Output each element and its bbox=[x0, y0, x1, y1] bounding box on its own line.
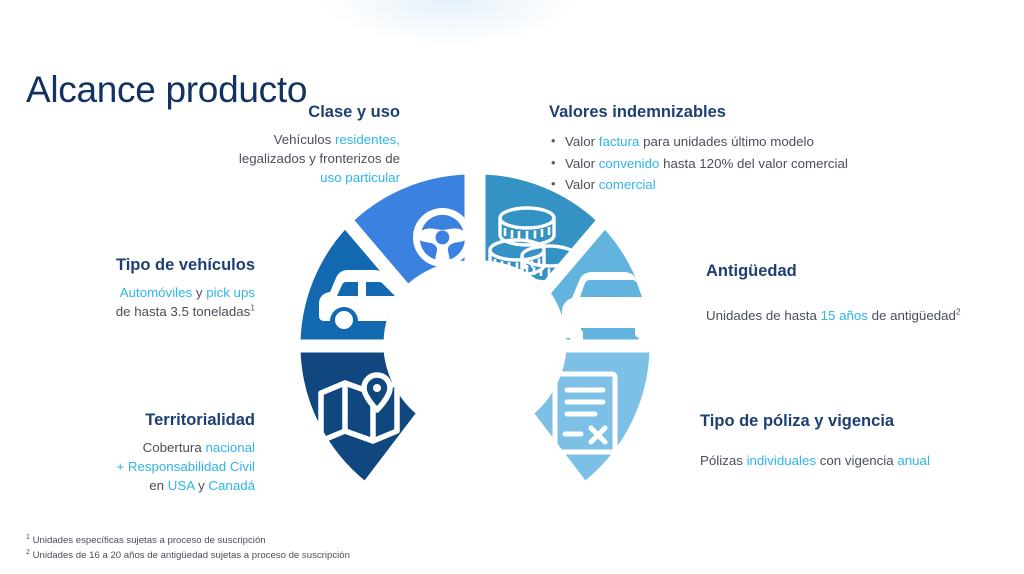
antiguedad-post: de antigüedad bbox=[868, 308, 956, 323]
territ-highlight-usa: USA bbox=[168, 478, 195, 493]
poliza-highlight-anual: anual bbox=[897, 453, 930, 468]
bullet-0-post: para unidades último modelo bbox=[639, 134, 813, 149]
antiguedad-highlight: 15 años bbox=[821, 308, 868, 323]
radial-diagram bbox=[255, 160, 695, 520]
territ-highlight-nacional: nacional bbox=[205, 440, 255, 455]
tipo-veh-highlight-2: pick ups bbox=[206, 285, 255, 300]
block-tipo-de-poliza: Tipo de póliza y vigencia Pólizas indivi… bbox=[700, 412, 1010, 471]
block-body-tipo-de-vehiculos: Automóviles y pick ups de hasta 3.5 tone… bbox=[20, 284, 255, 322]
poliza-mid: con vigencia bbox=[816, 453, 897, 468]
block-title-valores: Valores indemnizables bbox=[549, 103, 969, 122]
block-title-clase-y-uso: Clase y uso bbox=[120, 103, 400, 122]
clase-line-1: Vehículos residentes, bbox=[120, 131, 400, 150]
territ-line3-pre: en bbox=[149, 478, 168, 493]
block-title-antiguedad: Antigüedad bbox=[706, 262, 1006, 281]
bullet-0-highlight: factura bbox=[599, 134, 640, 149]
footnote-1-text: Unidades específicas sujetas a proceso d… bbox=[30, 535, 266, 546]
territ-line-2: + Responsabilidad Civil bbox=[10, 458, 255, 477]
tipo-veh-line2-text: de hasta 3.5 toneladas bbox=[116, 304, 251, 319]
antiguedad-line-1: Unidades de hasta 15 años de antigüedad2 bbox=[706, 307, 1006, 326]
block-body-territorialidad: Cobertura nacional + Responsabilidad Civ… bbox=[10, 439, 255, 496]
bullet-0-pre: Valor bbox=[565, 134, 599, 149]
list-item: Valor factura para unidades último model… bbox=[549, 131, 969, 153]
territ-line3-mid: y bbox=[194, 478, 208, 493]
poliza-highlight-individuales: individuales bbox=[747, 453, 816, 468]
footnote-ref-2: 2 bbox=[956, 307, 961, 317]
territ-highlight-canada: Canadá bbox=[208, 478, 255, 493]
segment-shape-territorialidad[interactable] bbox=[298, 350, 419, 484]
poliza-pre: Pólizas bbox=[700, 453, 747, 468]
tipo-veh-highlight-1: Automóviles bbox=[120, 285, 192, 300]
tipo-veh-line-1: Automóviles y pick ups bbox=[20, 284, 255, 303]
footnote-2: 2 Unidades de 16 a 20 años de antigüedad… bbox=[26, 548, 350, 564]
block-title-tipo-de-poliza: Tipo de póliza y vigencia bbox=[700, 412, 1010, 431]
clase-line1-highlight: residentes, bbox=[335, 132, 400, 147]
block-antiguedad: Antigüedad Unidades de hasta 15 años de … bbox=[706, 262, 1006, 326]
block-territorialidad: Territorialidad Cobertura nacional + Res… bbox=[10, 411, 255, 496]
diagram-segment-territorialidad[interactable] bbox=[298, 350, 419, 484]
poliza-line-1: Pólizas individuales con vigencia anual bbox=[700, 452, 1010, 471]
territ-highlight-responsabilidad: + Responsabilidad Civil bbox=[116, 459, 255, 474]
territ-line-1: Cobertura nacional bbox=[10, 439, 255, 458]
segment-shape-tipo-de-poliza[interactable] bbox=[531, 350, 652, 484]
block-title-tipo-de-vehiculos: Tipo de vehículos bbox=[20, 256, 255, 275]
block-tipo-de-vehiculos: Tipo de vehículos Automóviles y pick ups… bbox=[20, 256, 255, 322]
block-body-tipo-de-poliza: Pólizas individuales con vigencia anual bbox=[700, 452, 1010, 471]
footnote-1: 1 Unidades específicas sujetas a proceso… bbox=[26, 533, 350, 549]
footnotes: 1 Unidades específicas sujetas a proceso… bbox=[26, 533, 350, 564]
diagram-segment-tipo-de-poliza[interactable] bbox=[531, 350, 652, 484]
footnote-2-text: Unidades de 16 a 20 años de antigüedad s… bbox=[30, 550, 350, 561]
territ-line1-pre: Cobertura bbox=[143, 440, 206, 455]
block-title-territorialidad: Territorialidad bbox=[10, 411, 255, 430]
tipo-veh-line-2: de hasta 3.5 toneladas1 bbox=[20, 303, 255, 322]
decorative-wash bbox=[320, 0, 580, 46]
tipo-veh-line1-mid: y bbox=[192, 285, 206, 300]
antiguedad-pre: Unidades de hasta bbox=[706, 308, 821, 323]
clase-line1-pre: Vehículos bbox=[274, 132, 335, 147]
slide-canvas: Alcance producto Clase y uso Vehículos r… bbox=[0, 0, 1024, 574]
territ-line-3: en USA y Canadá bbox=[10, 477, 255, 496]
block-body-antiguedad: Unidades de hasta 15 años de antigüedad2 bbox=[706, 307, 1006, 326]
